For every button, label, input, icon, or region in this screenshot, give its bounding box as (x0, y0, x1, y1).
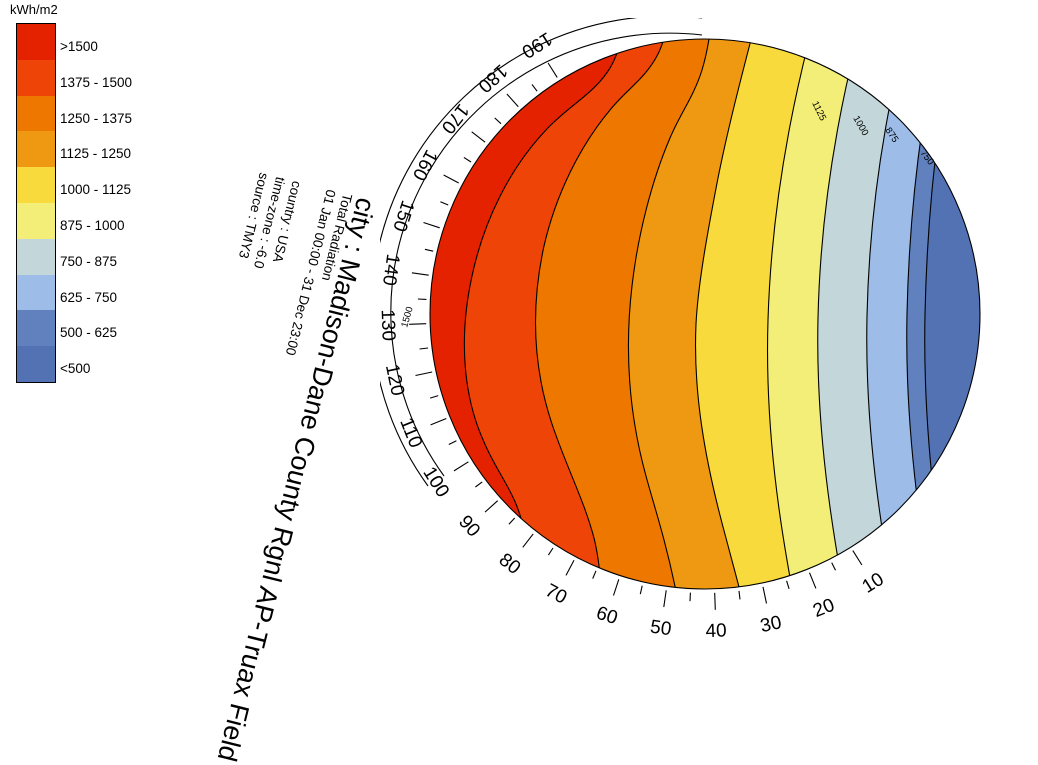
legend-swatch-0 (17, 24, 55, 60)
azimuth-minor-tick-170 (495, 118, 501, 124)
azimuth-label-20: 20 (810, 595, 837, 622)
azimuth-tick-130 (409, 324, 426, 325)
azimuth-tick-50 (664, 590, 666, 607)
azimuth-tick-160 (444, 175, 459, 183)
azimuth-tick-40 (715, 593, 716, 610)
azimuth-tick-170 (472, 132, 485, 142)
azimuth-label-170: 170 (437, 100, 473, 138)
legend-panel: kWh/m2 >15001375 - 15001250 - 13751125 -… (8, 2, 158, 23)
azimuth-label-90: 90 (454, 512, 484, 542)
legend-label-7: 625 - 750 (60, 274, 132, 310)
azimuth-tick-30 (763, 587, 767, 604)
legend-swatch-4 (17, 167, 55, 203)
azimuth-label-130: 130 (380, 309, 399, 341)
legend-label-0: >1500 (60, 23, 132, 59)
azimuth-label-80: 80 (495, 549, 525, 579)
azimuth-tick-70 (566, 560, 574, 575)
contour-label-1500: 1500 (399, 305, 415, 328)
legend-color-bar (16, 23, 56, 383)
azimuth-label-40: 40 (705, 620, 727, 642)
azimuth-label-190: 190 (518, 27, 556, 62)
legend-label-1: 1375 - 1500 (60, 59, 132, 95)
polar-contour-plot: 1020304050607080901001101201301401501601… (380, 18, 1030, 678)
azimuth-label-180: 180 (474, 60, 512, 97)
legend-swatch-1 (17, 60, 55, 96)
azimuth-label-10: 10 (859, 569, 888, 598)
azimuth-minor-tick-140 (425, 249, 433, 251)
legend-label-3: 1125 - 1250 (60, 130, 132, 166)
azimuth-minor-tick-20 (787, 581, 790, 589)
azimuth-label-100: 100 (418, 463, 453, 501)
legend-swatch-6 (17, 239, 55, 275)
azimuth-minor-tick-70 (548, 548, 553, 555)
azimuth-minor-tick-160 (464, 157, 471, 162)
azimuth-label-160: 160 (408, 146, 441, 184)
legend-swatch-5 (17, 203, 55, 239)
azimuth-label-70: 70 (542, 580, 571, 608)
azimuth-label-60: 60 (594, 603, 621, 630)
legend-title: kWh/m2 (8, 2, 158, 18)
azimuth-label-120: 120 (381, 362, 408, 397)
azimuth-tick-80 (523, 534, 533, 547)
azimuth-minor-tick-150 (440, 202, 448, 205)
legend-label-2: 1250 - 1375 (60, 95, 132, 131)
azimuth-tick-10 (853, 551, 862, 565)
azimuth-tick-20 (810, 573, 816, 589)
azimuth-tick-140 (412, 273, 429, 275)
azimuth-tick-90 (485, 501, 498, 512)
legend-label-9: <500 (60, 345, 132, 381)
azimuth-minor-tick-80 (509, 518, 515, 524)
azimuth-tick-180 (507, 94, 518, 107)
legend-label-6: 750 - 875 (60, 238, 132, 274)
legend-swatch-8 (17, 310, 55, 346)
azimuth-tick-60 (614, 579, 619, 595)
azimuth-minor-tick-120 (420, 348, 429, 349)
legend-label-8: 500 - 625 (60, 309, 132, 345)
azimuth-label-110: 110 (395, 415, 426, 451)
legend-label-5: 875 - 1000 (60, 202, 132, 238)
azimuth-minor-tick-100 (449, 441, 457, 445)
legend-swatch-9 (17, 346, 55, 382)
azimuth-tick-100 (454, 462, 468, 471)
azimuth-minor-tick-30 (739, 591, 740, 600)
azimuth-label-30: 30 (758, 612, 783, 637)
azimuth-minor-tick-50 (640, 586, 642, 594)
azimuth-tick-120 (416, 372, 433, 376)
azimuth-minor-tick-60 (593, 571, 596, 579)
azimuth-label-50: 50 (649, 617, 673, 641)
legend-swatch-3 (17, 131, 55, 167)
azimuth-tick-150 (424, 223, 440, 228)
azimuth-minor-tick-180 (532, 84, 537, 91)
azimuth-label-140: 140 (380, 253, 403, 287)
azimuth-tick-110 (431, 419, 447, 425)
legend-label-4: 1000 - 1125 (60, 166, 132, 202)
azimuth-minor-tick-110 (430, 396, 438, 399)
azimuth-minor-tick-90 (475, 482, 482, 487)
legend-swatch-2 (17, 96, 55, 132)
azimuth-tick-190 (548, 63, 557, 77)
legend-label-column: >15001375 - 15001250 - 13751125 - 125010… (60, 23, 132, 381)
azimuth-minor-tick-10 (832, 563, 836, 571)
legend-swatch-7 (17, 275, 55, 311)
